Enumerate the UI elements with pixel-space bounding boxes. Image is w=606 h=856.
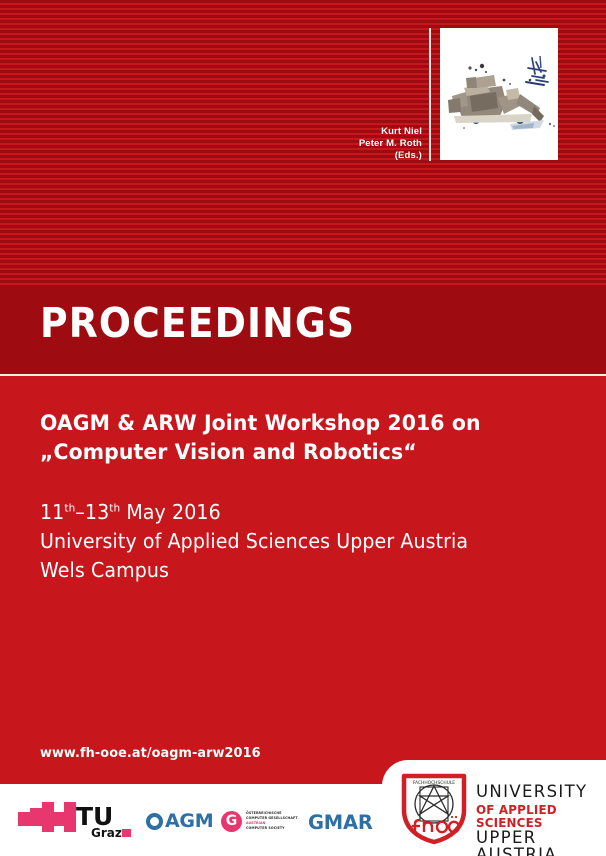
ocg-line-4: COMPUTER SOCIETY	[246, 827, 298, 831]
oagm-label: AGM	[165, 810, 213, 832]
oagm-logo: AGM	[146, 810, 213, 832]
editor-name-1: Kurt Niel	[300, 126, 422, 138]
venue-block: 11th–13th May 2016 University of Applied…	[40, 498, 553, 585]
book-cover: Kurt Niel Peter M. Roth (Eds.)	[0, 0, 606, 856]
subtitle-line-2: „Computer Vision and Robotics“	[40, 439, 553, 468]
editors-suffix: (Eds.)	[300, 150, 422, 162]
fh-upper-austria-panel: FACHHOCHSCHULE UNIVERSITY OF APPLIED SCI…	[382, 760, 606, 856]
event-dates: 11th–13th May 2016	[40, 498, 553, 527]
fh-line-1: UNIVERSITY	[476, 784, 602, 802]
gmar-logo: GMAR	[308, 811, 373, 834]
venue-line-1: University of Applied Sciences Upper Aus…	[40, 527, 553, 556]
svg-text:FACHHOCHSCHULE: FACHHOCHSCHULE	[413, 780, 455, 786]
website-url[interactable]: www.fh-ooe.at/oagm-arw2016	[40, 745, 261, 761]
date-sup-1: th	[64, 501, 75, 514]
fh-crest-icon: FACHHOCHSCHULE	[398, 770, 470, 846]
oagm-o-icon	[146, 813, 163, 830]
page-title: PROCEEDINGS	[40, 303, 355, 344]
vertical-divider	[429, 28, 431, 161]
fh-line-2: OF APPLIED SCIENCES	[476, 803, 600, 829]
venue-line-2: Wels Campus	[40, 556, 553, 585]
svg-text:Graz: Graz	[91, 826, 122, 840]
date-end: –13	[75, 500, 109, 524]
fh-wordmark: UNIVERSITY OF APPLIED SCIENCES UPPER AUS…	[476, 784, 606, 856]
date-sup-2: th	[109, 501, 120, 514]
editors-block: Kurt Niel Peter M. Roth (Eds.)	[300, 126, 422, 162]
date-start: 11	[40, 500, 64, 524]
subtitle-line-1: OAGM & ARW Joint Workshop 2016 on	[40, 410, 553, 439]
date-month-year: May 2016	[120, 500, 221, 524]
ocg-logo: ÖSTERREICHISCHE COMPUTER GESELLSCHAFT AU…	[221, 809, 301, 833]
editor-name-2: Peter M. Roth	[300, 138, 422, 150]
ocg-g-icon	[221, 811, 242, 832]
cover-thumbnail-image	[440, 28, 558, 160]
ocg-text-lines: ÖSTERREICHISCHE COMPUTER GESELLSCHAFT AU…	[246, 811, 295, 830]
workshop-subtitle: OAGM & ARW Joint Workshop 2016 on „Compu…	[40, 410, 553, 467]
tu-graz-logo: TU Graz	[16, 798, 138, 840]
fh-line-3: UPPER AUSTRIA	[476, 830, 602, 856]
